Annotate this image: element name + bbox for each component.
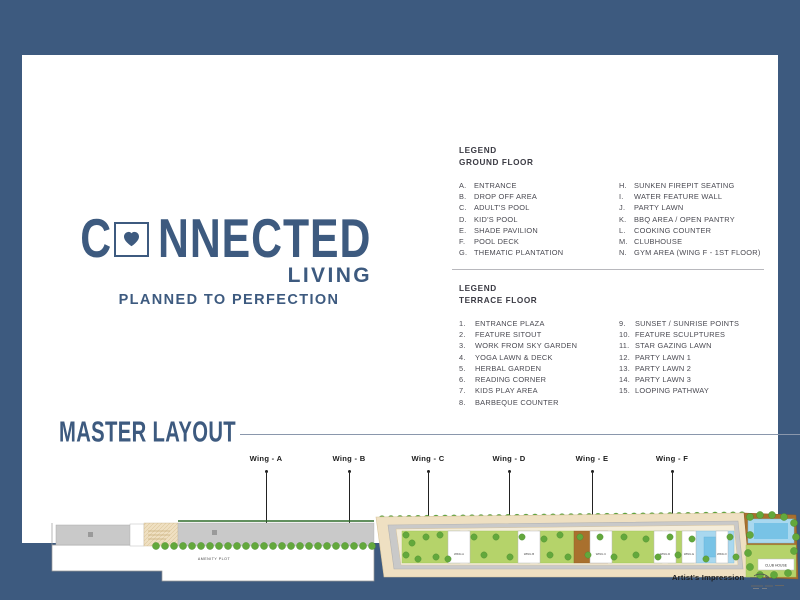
tree-canopy: [621, 534, 627, 540]
legend-item-label: SUNSET / SUNRISE POINTS: [635, 318, 739, 329]
legend-item: B.DROP OFF AREA: [459, 191, 619, 202]
legend-item: K.BBQ AREA / OPEN PANTRY: [619, 214, 779, 225]
legend-item-label: PARTY LAWN 3: [635, 374, 691, 385]
wing-label: Wing - E: [576, 454, 609, 463]
site-plan: WING AWING BWING CWING DWING EWING F CLU…: [44, 485, 800, 585]
tree-canopy: [756, 511, 763, 518]
tree-canopy: [689, 536, 695, 542]
legend-item-key: F.: [459, 236, 474, 247]
legend-item-key: 14.: [619, 374, 635, 385]
legend-ground-floor: LEGEND GROUND FLOOR A.ENTRANCEB.DROP OFF…: [459, 145, 779, 259]
tree-canopy: [251, 542, 258, 549]
legend-item: 7.KIDS PLAY AREA: [459, 385, 619, 396]
legend-item: 15.LOOPING PATHWAY: [619, 385, 779, 396]
legend-item: 2.FEATURE SITOUT: [459, 329, 619, 340]
legend-item-label: GYM AREA (WING F - 1ST FLOOR): [634, 247, 761, 258]
legend-item-key: 5.: [459, 363, 475, 374]
legend-terrace-title: LEGEND: [459, 283, 779, 295]
legend-item-key: M.: [619, 236, 634, 247]
tree-canopy: [359, 542, 366, 549]
legend-item: 1.ENTRANCE PLAZA: [459, 318, 619, 329]
legend-item-label: ENTRANCE: [474, 180, 517, 191]
tree-canopy: [403, 532, 409, 538]
legend-item: 8.BARBEQUE COUNTER: [459, 397, 619, 408]
legend-terrace-right-column: 9.SUNSET / SUNRISE POINTS10.FEATURE SCUL…: [619, 318, 779, 408]
legend-item-key: K.: [619, 214, 634, 225]
legend-terrace-subtitle: TERRACE FLOOR: [459, 295, 779, 307]
legend-item: 10.FEATURE SCULPTURES: [619, 329, 779, 340]
legend-item-key: 1.: [459, 318, 475, 329]
legend-item-key: 3.: [459, 340, 475, 351]
tree-canopy: [403, 552, 409, 558]
legend-item-label: SHADE PAVILION: [474, 225, 538, 236]
tree-canopy: [188, 542, 195, 549]
legend-item-label: DROP OFF AREA: [474, 191, 537, 202]
wing-label: Wing - F: [656, 454, 688, 463]
wing-block-label: WING E: [684, 552, 694, 556]
tree-canopy: [768, 511, 775, 518]
tree-canopy: [597, 534, 603, 540]
legend-ground-title: LEGEND: [459, 145, 779, 157]
tree-canopy: [323, 542, 330, 549]
tree-canopy: [296, 542, 303, 549]
legend-ground-left-column: A.ENTRANCEB.DROP OFF AREAC.ADULT'S POOLD…: [459, 180, 619, 259]
legend-item-key: B.: [459, 191, 474, 202]
tree-canopy: [507, 554, 513, 560]
logo-tagline: PLANNED TO PERFECTION: [84, 292, 374, 308]
wing-building-block: WING F: [716, 531, 728, 563]
tree-canopy: [703, 556, 709, 562]
amenity-plot-label: AMENITY PLOT: [198, 557, 231, 561]
north-arrow-icon: [748, 567, 788, 593]
tree-canopy: [577, 534, 583, 540]
legend-item-label: STAR GAZING LAWN: [635, 340, 712, 351]
legend-item: J.PARTY LAWN: [619, 202, 779, 213]
wing-block-label: WING B: [524, 552, 534, 556]
legend-item-label: COOKING COUNTER: [634, 225, 711, 236]
wing-label: Wing - A: [250, 454, 283, 463]
legend-item-key: D.: [459, 214, 474, 225]
tree-canopy: [341, 542, 348, 549]
tree-canopy: [493, 534, 499, 540]
tree-canopy: [242, 542, 249, 549]
legend-item-key: I.: [619, 191, 634, 202]
legend-item-key: L.: [619, 225, 634, 236]
tree-canopy: [519, 534, 525, 540]
tree-canopy: [547, 552, 553, 558]
wing-building-block: WING E: [682, 531, 696, 563]
legend-ground-right-column: H.SUNKEN FIREPIT SEATINGI.WATER FEATURE …: [619, 180, 779, 259]
wing-block-label: WING F: [717, 552, 727, 556]
legend-item: L.COOKING COUNTER: [619, 225, 779, 236]
tree-canopy: [152, 542, 159, 549]
tree-canopy: [215, 542, 222, 549]
artist-impression-caption: Artist's Impression: [672, 573, 744, 582]
legend-item-label: ENTRANCE PLAZA: [475, 318, 545, 329]
legend-item-label: WATER FEATURE WALL: [634, 191, 722, 202]
tree-canopy: [746, 513, 753, 520]
brand-logo: C NNECTED LIVING PLANNED TO PERFECTION: [84, 215, 374, 308]
legend-item-label: THEMATIC PLANTATION: [474, 247, 563, 258]
tree-canopy: [557, 532, 563, 538]
legend-item-key: 15.: [619, 385, 635, 396]
tree-canopy: [727, 534, 733, 540]
legend-item: 3.WORK FROM SKY GARDEN: [459, 340, 619, 351]
legend-item-label: LOOPING PATHWAY: [635, 385, 709, 396]
legend-item-key: 12.: [619, 352, 635, 363]
tree-canopy: [655, 554, 661, 560]
tree-canopy: [633, 552, 639, 558]
tree-canopy: [746, 531, 753, 538]
tree-canopy: [585, 552, 591, 558]
tree-canopy: [481, 552, 487, 558]
wing-building-block: WING A: [448, 531, 470, 563]
legend-item: 4.YOGA LAWN & DECK: [459, 352, 619, 363]
tree-canopy: [332, 542, 339, 549]
legend-item-label: HERBAL GARDEN: [475, 363, 541, 374]
tree-canopy: [733, 554, 739, 560]
wing-callouts: Wing - AWing - BWing - CWing - DWing - E…: [44, 448, 800, 488]
legend-item-label: SUNKEN FIREPIT SEATING: [634, 180, 735, 191]
logo-letter-c: C: [80, 211, 112, 265]
legend-terrace-floor: LEGEND TERRACE FLOOR 1.ENTRANCE PLAZA2.F…: [459, 283, 779, 408]
legend-item: E.SHADE PAVILION: [459, 225, 619, 236]
wing-label: Wing - B: [332, 454, 365, 463]
legend-item-key: H.: [619, 180, 634, 191]
tree-canopy: [790, 519, 797, 526]
tree-canopy: [206, 542, 213, 549]
legend-item: M.CLUBHOUSE: [619, 236, 779, 247]
tree-canopy: [260, 542, 267, 549]
tree-canopy: [565, 554, 571, 560]
legend-item: N.GYM AREA (WING F - 1ST FLOOR): [619, 247, 779, 258]
legend-item-label: READING CORNER: [475, 374, 546, 385]
legend-item-key: N.: [619, 247, 634, 258]
legend-item: 12.PARTY LAWN 1: [619, 352, 779, 363]
legend-item-label: CLUBHOUSE: [634, 236, 682, 247]
poster-page: C NNECTED LIVING PLANNED TO PERFECTION L…: [0, 0, 800, 600]
tree-canopy: [445, 556, 451, 562]
legend-item: D.KID'S POOL: [459, 214, 619, 225]
legend-item-key: 13.: [619, 363, 635, 374]
legend-item-key: A.: [459, 180, 474, 191]
tree-canopy: [409, 540, 415, 546]
tree-canopy: [415, 556, 421, 562]
legend-item: A.ENTRANCE: [459, 180, 619, 191]
tree-canopy: [287, 542, 294, 549]
legend-item-key: 10.: [619, 329, 635, 340]
tree-canopy: [224, 542, 231, 549]
legend-item-label: KIDS PLAY AREA: [475, 385, 538, 396]
tree-canopy: [197, 542, 204, 549]
legend-item-label: BARBEQUE COUNTER: [475, 397, 559, 408]
legend-item-key: 4.: [459, 352, 475, 363]
legend-item-label: FEATURE SITOUT: [475, 329, 541, 340]
tree-canopy: [350, 542, 357, 549]
tree-canopy: [471, 534, 477, 540]
legend-terrace-left-column: 1.ENTRANCE PLAZA2.FEATURE SITOUT3.WORK F…: [459, 318, 619, 408]
legend-item: 5.HERBAL GARDEN: [459, 363, 619, 374]
tree-canopy: [305, 542, 312, 549]
brochure-card: C NNECTED LIVING PLANNED TO PERFECTION L…: [22, 55, 778, 543]
master-layout-title: MASTER LAYOUT: [59, 415, 236, 449]
wing-block-label: WING C: [596, 552, 606, 556]
legend-item-label: POOL DECK: [474, 236, 519, 247]
wing-label: Wing - D: [492, 454, 525, 463]
legend-item: 14.PARTY LAWN 3: [619, 374, 779, 385]
tree-canopy: [368, 542, 375, 549]
tree-canopy: [675, 552, 681, 558]
legend-item: C.ADULT'S POOL: [459, 202, 619, 213]
legend-item-key: 9.: [619, 318, 635, 329]
wing-block-label: WING D: [660, 552, 670, 556]
legend-item-key: 2.: [459, 329, 475, 340]
legend-item: 11.STAR GAZING LAWN: [619, 340, 779, 351]
wing-label: Wing - C: [411, 454, 444, 463]
tree-canopy: [790, 547, 797, 554]
legend-item-label: BBQ AREA / OPEN PANTRY: [634, 214, 735, 225]
legend-item-key: G.: [459, 247, 474, 258]
tree-canopy: [269, 542, 276, 549]
legend-item: F.POOL DECK: [459, 236, 619, 247]
tree-canopy: [437, 532, 443, 538]
legend-item: I.WATER FEATURE WALL: [619, 191, 779, 202]
tree-canopy: [667, 534, 673, 540]
legend-item: H.SUNKEN FIREPIT SEATING: [619, 180, 779, 191]
legend-item-label: PARTY LAWN 2: [635, 363, 691, 374]
tree-canopy: [179, 542, 186, 549]
legend-item-key: 7.: [459, 385, 475, 396]
legend-item: 9.SUNSET / SUNRISE POINTS: [619, 318, 779, 329]
tree-canopy: [433, 554, 439, 560]
tree-canopy: [233, 542, 240, 549]
legend-divider: [452, 269, 764, 270]
master-layout-rule: [240, 434, 800, 435]
tree-canopy: [541, 536, 547, 542]
logo-letters-rest: NNECTED: [158, 211, 371, 265]
heart-icon: [114, 222, 149, 257]
legend-item: 6.READING CORNER: [459, 374, 619, 385]
wing-block-label: WING A: [454, 552, 464, 556]
legend-item-key: 6.: [459, 374, 475, 385]
tree-canopy: [643, 536, 649, 542]
legend-item: 13.PARTY LAWN 2: [619, 363, 779, 374]
tree-canopy: [744, 549, 751, 556]
legend-item-label: ADULT'S POOL: [474, 202, 530, 213]
legend-item-label: PARTY LAWN 1: [635, 352, 691, 363]
tree-canopy: [161, 542, 168, 549]
tree-canopy: [423, 534, 429, 540]
legend-item-key: C.: [459, 202, 474, 213]
legend-item-key: 8.: [459, 397, 475, 408]
logo-wordmark: C NNECTED: [84, 215, 374, 261]
tree-canopy: [278, 542, 285, 549]
legend-item-key: 11.: [619, 340, 635, 351]
legend-item-label: KID'S POOL: [474, 214, 518, 225]
legend-item-label: YOGA LAWN & DECK: [475, 352, 553, 363]
tree-canopy: [314, 542, 321, 549]
legend-ground-subtitle: GROUND FLOOR: [459, 157, 779, 169]
tree-canopy: [611, 554, 617, 560]
legend-item-label: WORK FROM SKY GARDEN: [475, 340, 577, 351]
tree-canopy: [780, 513, 787, 520]
tree-canopy: [792, 533, 799, 540]
legend-item-label: PARTY LAWN: [634, 202, 683, 213]
legend-item-label: FEATURE SCULPTURES: [635, 329, 725, 340]
tree-canopy: [170, 542, 177, 549]
amenity-plot: [52, 521, 374, 581]
legend-item-key: J.: [619, 202, 634, 213]
legend-item-key: E.: [459, 225, 474, 236]
legend-item: G.THEMATIC PLANTATION: [459, 247, 619, 258]
